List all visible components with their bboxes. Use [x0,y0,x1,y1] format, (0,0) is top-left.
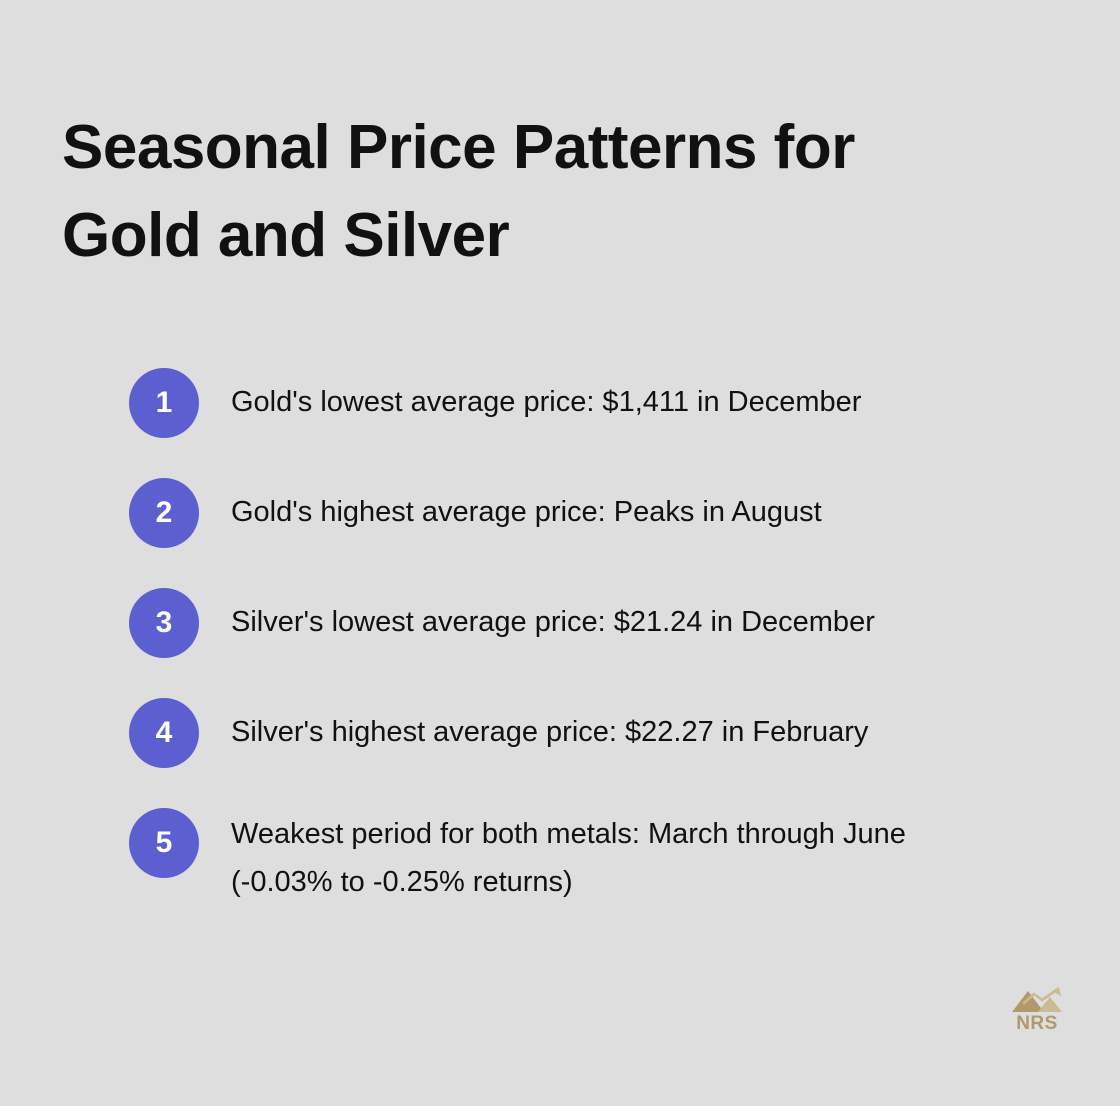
brand-wordmark: NRS [1016,1014,1058,1034]
key-points-list: 1 Gold's lowest average price: $1,411 in… [129,368,1069,906]
page-title: Seasonal Price Patterns for Gold and Sil… [62,104,1022,280]
list-item-number: 3 [156,608,173,638]
list-item-text: Gold's highest average price: Peaks in A… [231,478,822,536]
list-item: 3 Silver's lowest average price: $21.24 … [129,588,1069,658]
list-item-badge-3: 3 [129,588,199,658]
list-item-text: Silver's highest average price: $22.27 i… [231,698,868,756]
page-title-line-2: Gold and Silver [62,192,1022,280]
list-item: 5 Weakest period for both metals: March … [129,808,1069,906]
list-item-number: 1 [156,388,173,418]
mountain-chart-arrow-icon [1009,987,1065,1013]
list-item-number: 4 [156,718,173,748]
list-item-text-line-2: (-0.03% to -0.25% returns) [231,858,906,906]
infographic-poster: Seasonal Price Patterns for Gold and Sil… [0,0,1120,1106]
list-item-number: 2 [156,498,173,528]
list-item-text: Silver's lowest average price: $21.24 in… [231,588,875,646]
page-title-line-1: Seasonal Price Patterns for [62,104,1022,192]
list-item-text: Gold's lowest average price: $1,411 in D… [231,368,861,426]
list-item-badge-5: 5 [129,808,199,878]
list-item-text-line-1: Weakest period for both metals: March th… [231,810,906,858]
list-item: 1 Gold's lowest average price: $1,411 in… [129,368,1069,438]
brand-logo: NRS [1006,984,1068,1034]
list-item: 4 Silver's highest average price: $22.27… [129,698,1069,768]
list-item-badge-4: 4 [129,698,199,768]
list-item-number: 5 [156,828,173,858]
list-item-badge-2: 2 [129,478,199,548]
list-item: 2 Gold's highest average price: Peaks in… [129,478,1069,548]
list-item-text: Weakest period for both metals: March th… [231,808,906,906]
list-item-badge-1: 1 [129,368,199,438]
